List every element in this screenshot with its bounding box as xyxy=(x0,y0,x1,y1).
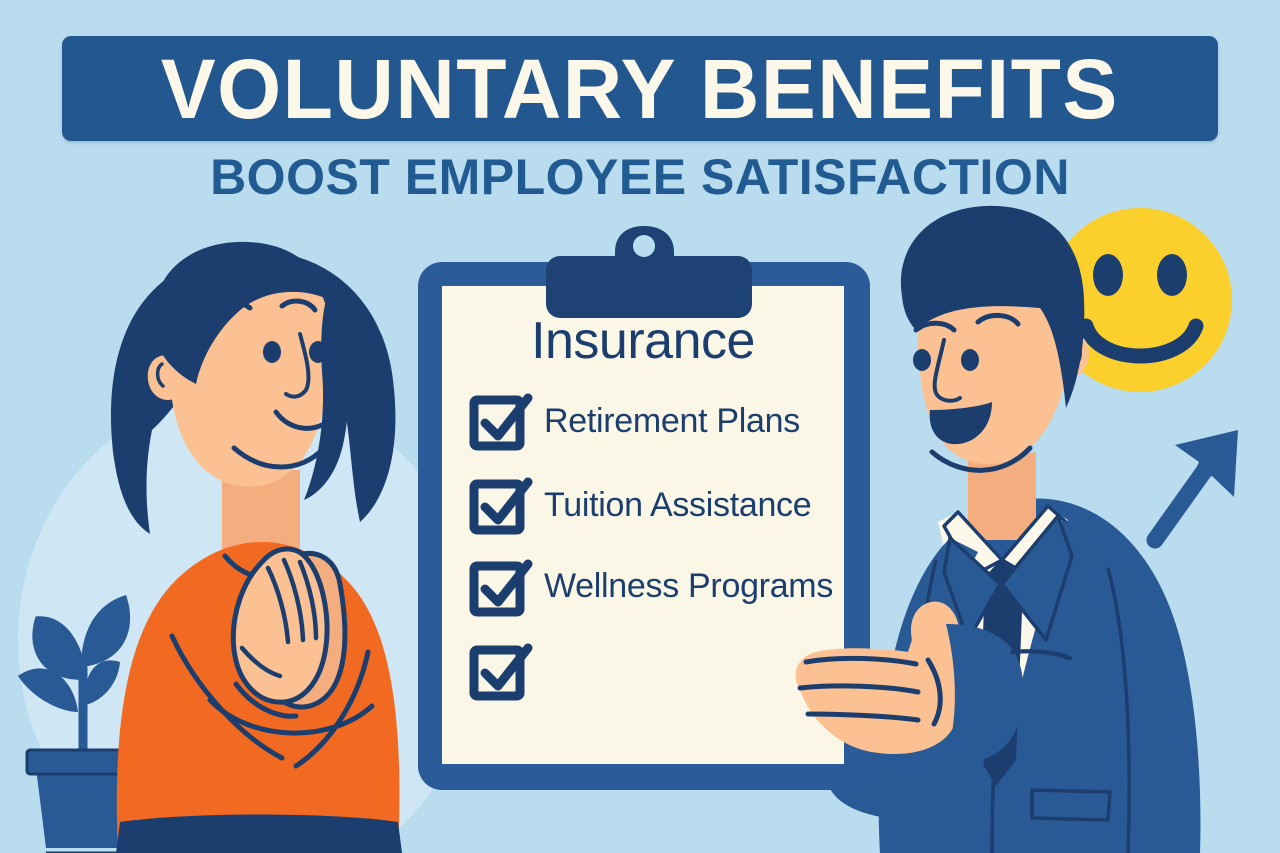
infographic-poster: VOLUNTARY BENEFITS BOOST EMPLOYEE SATISF… xyxy=(0,0,1280,853)
checkbox-2 xyxy=(474,564,528,612)
page-subtitle: BOOST EMPLOYEE SATISFACTION xyxy=(0,152,1280,202)
page-title: VOLUNTARY BENEFITS xyxy=(161,47,1119,131)
woman-halo xyxy=(18,390,478,853)
man-hand-overlay xyxy=(796,602,1070,764)
title-banner: VOLUNTARY BENEFITS xyxy=(62,36,1218,141)
checkbox-3 xyxy=(474,648,528,696)
clipboard-heading: Insurance xyxy=(442,314,844,369)
checklist-item-label-0: Retirement Plans xyxy=(544,404,874,438)
man-illustration xyxy=(796,206,1201,853)
checkbox-1 xyxy=(474,482,528,530)
plant-illustration xyxy=(18,595,139,853)
smiley-face-icon xyxy=(1048,208,1232,392)
checklist-item-label-2: Wellness Programs xyxy=(544,569,874,603)
checkbox-0 xyxy=(474,398,528,446)
woman-illustration xyxy=(111,242,402,853)
growth-arrow-icon xyxy=(1155,430,1238,540)
woman-hands xyxy=(233,549,345,716)
man-presenting-hand xyxy=(796,602,1068,820)
checklist-item-label-1: Tuition Assistance xyxy=(544,488,874,522)
